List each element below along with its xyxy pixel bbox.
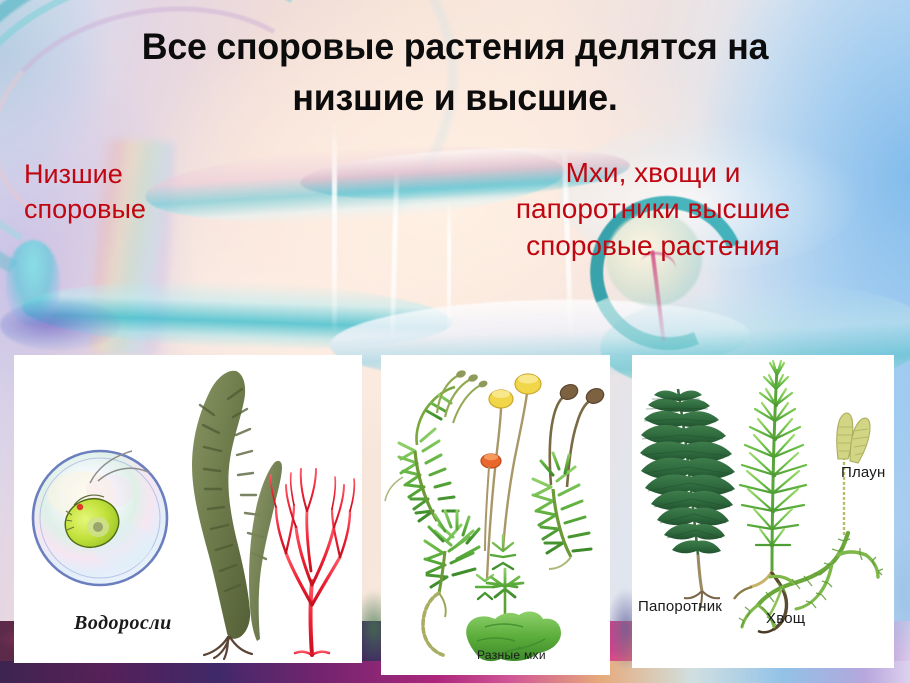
subtitle-higher-spore-plants: Мхи, хвощи и папоротники высшие споровые… [430,155,876,264]
subtitle-right-line-2: папоротники высшие [430,191,876,227]
algae-illustration [14,355,362,663]
moss-sporophytes-yellow [476,374,541,599]
caption-mosses: Разные мхи [477,648,546,662]
caption-fern: Папоротник [638,598,722,615]
seaweed-blade [249,461,282,641]
subtitle-right-line-1: Мхи, хвощи и [430,155,876,191]
background-violet-blob [0,300,120,350]
image-panel-higher-spore-plants [632,355,894,668]
fern-frond [640,389,735,611]
caption-algae: Водоросли [74,612,172,635]
higher-spore-plants-illustration [632,355,894,668]
clubmoss [739,413,883,627]
subtitle-left-line-1: Низшие [24,157,254,192]
subtitle-lower-spore-plants: Низшие споровые [24,157,254,227]
subtitle-right-line-3: споровые растения [430,228,876,264]
chlamydomonas-droplet [33,451,167,585]
caption-clubmoss: Плаун [841,464,886,481]
presentation-slide: Все споровые растения делятся на низшие … [0,0,910,683]
background-light-stem-1 [332,120,337,335]
image-panel-algae [14,355,362,663]
mosses-illustration [381,355,610,675]
caption-horsetail: Хвощ [766,610,805,627]
subtitle-left-line-2: споровые [24,192,254,227]
moss-with-brown-capsules [533,382,606,569]
red-algae [271,469,355,655]
slide-title-line-1: Все споровые растения делятся на [66,22,844,73]
moss-with-sporophytes [385,369,488,521]
image-panel-mosses [381,355,610,675]
slide-title-line-2: низшие и высшие. [66,73,844,124]
slide-title: Все споровые растения делятся на низшие … [66,22,844,123]
